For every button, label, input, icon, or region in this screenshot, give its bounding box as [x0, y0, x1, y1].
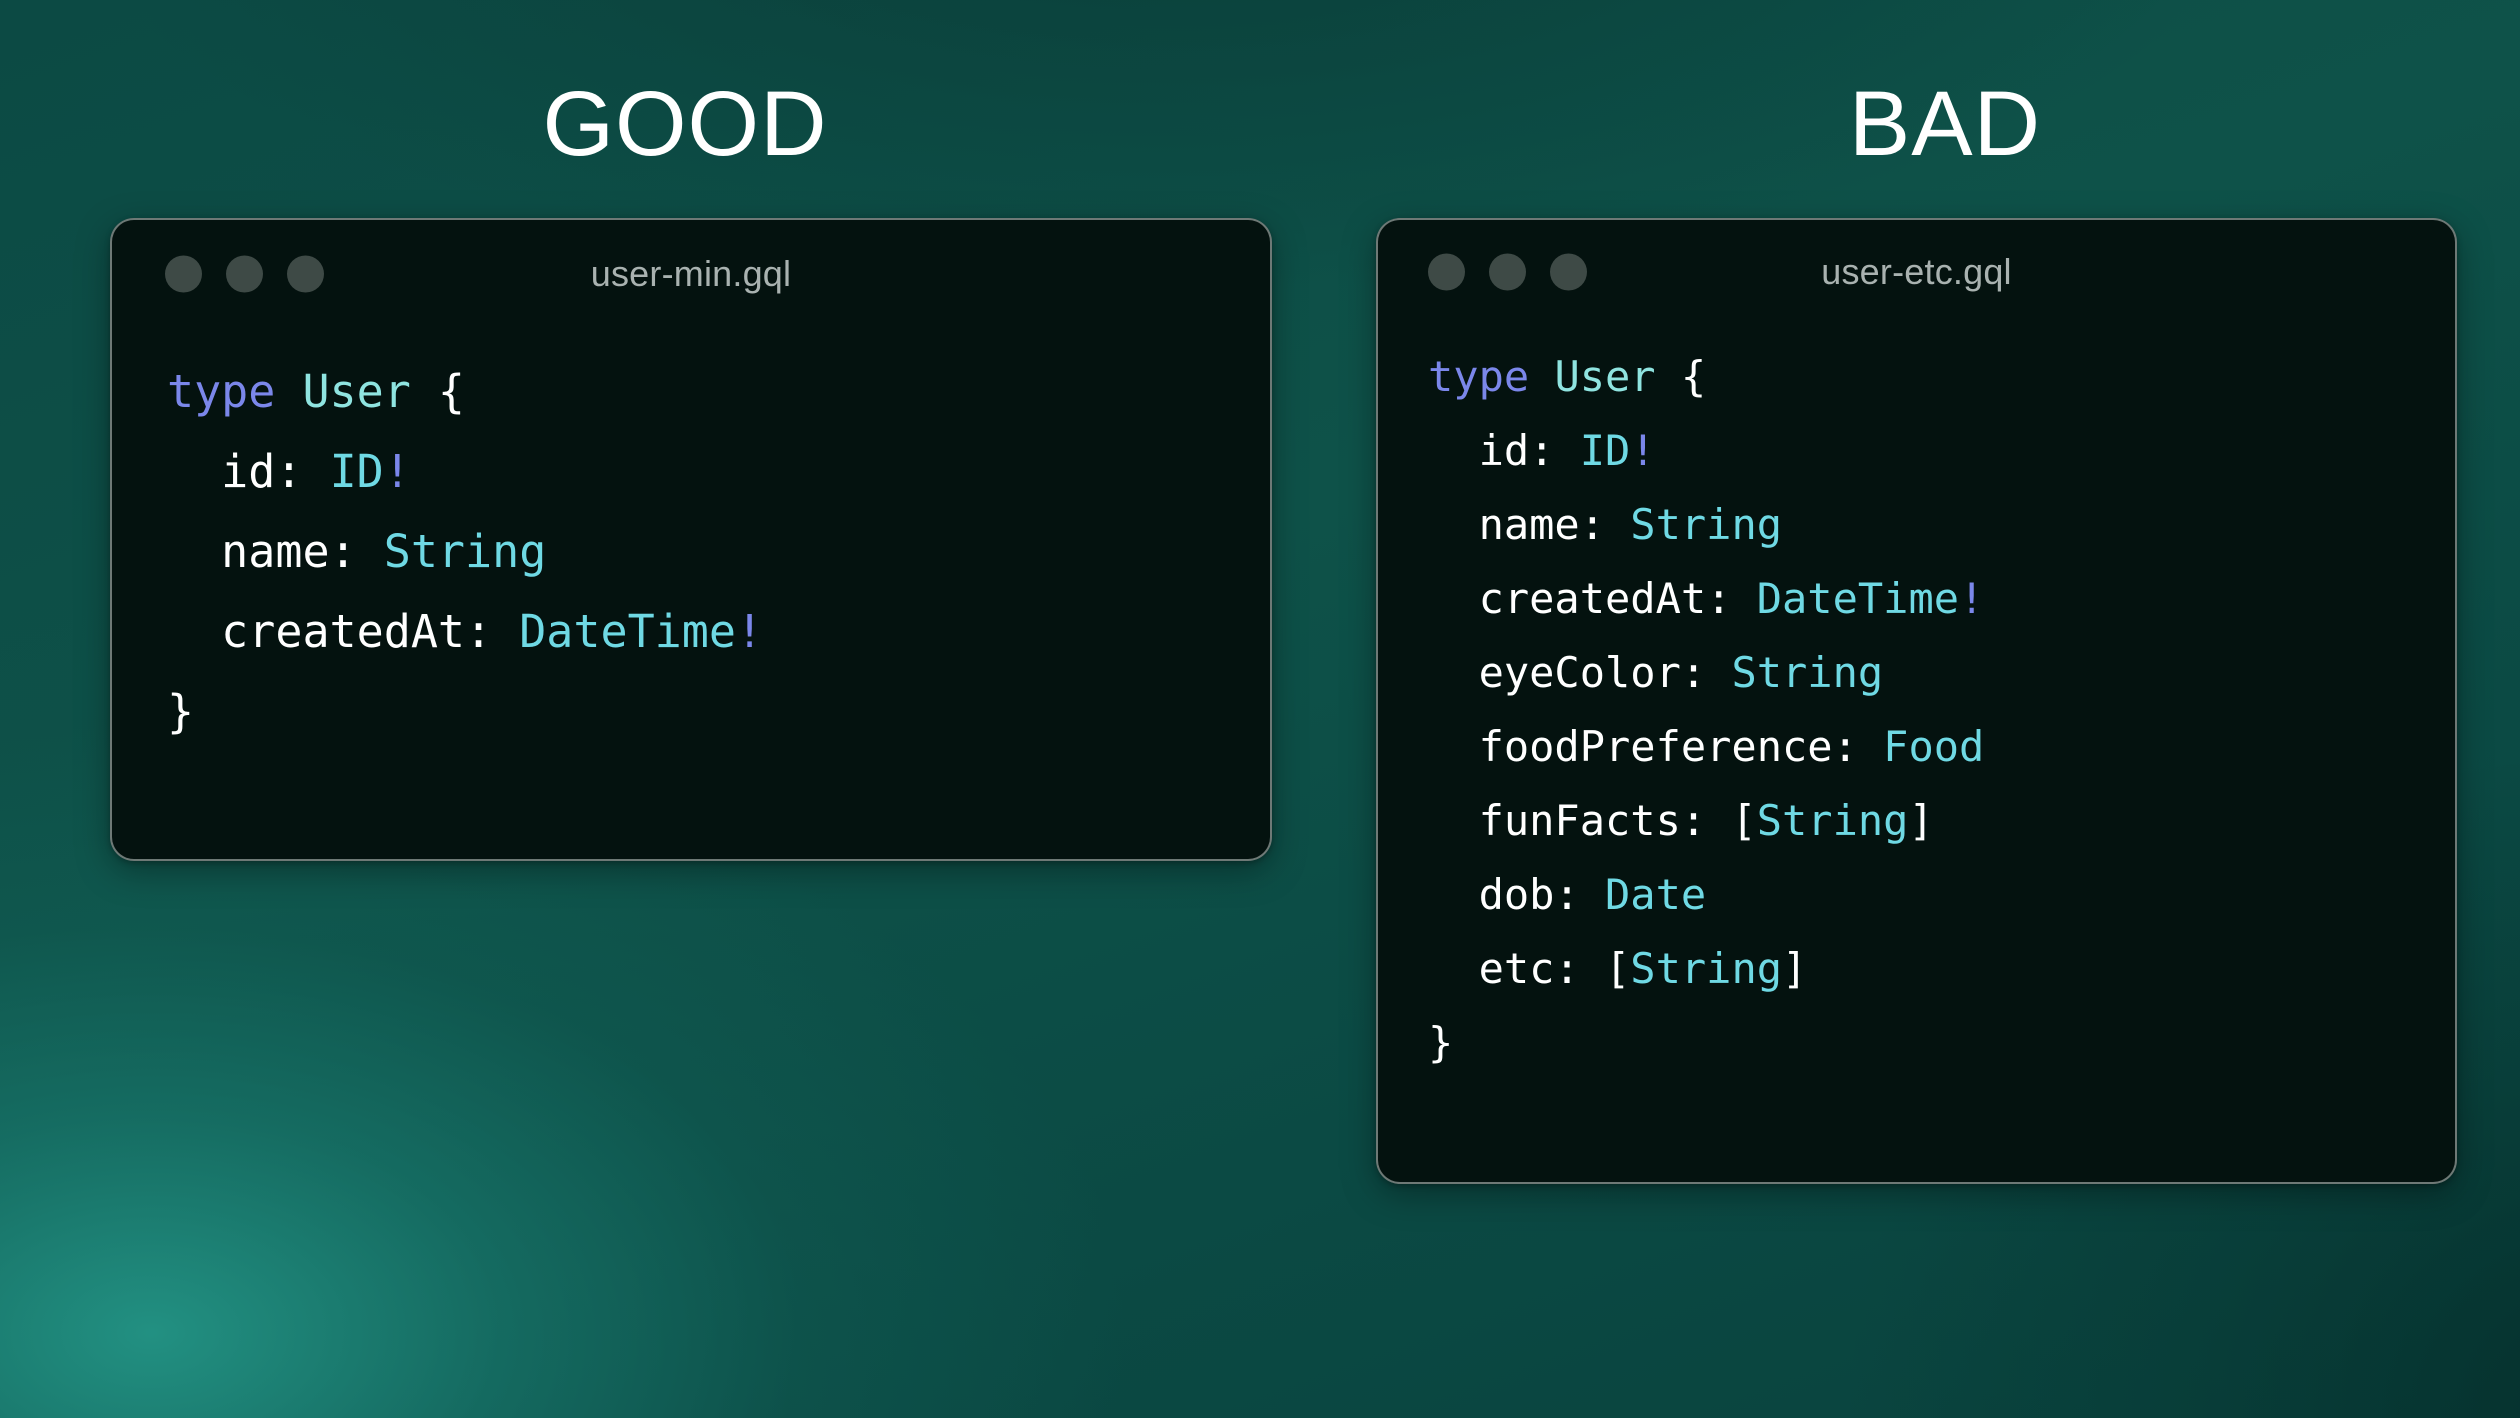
code-token-type: String: [1731, 648, 1883, 697]
window-filename-good: user-min.gql: [112, 253, 1270, 295]
code-token-type: String: [1757, 796, 1909, 845]
code-token-punct: dob:: [1428, 870, 1605, 919]
code-line: }: [167, 672, 1270, 752]
code-token-punct: createdAt:: [1428, 574, 1757, 623]
code-line: id: ID!: [1428, 414, 2455, 488]
code-token-punct: {: [1656, 352, 1707, 401]
code-token-punct: foodPreference:: [1428, 722, 1883, 771]
code-token-type: DateTime: [519, 605, 736, 658]
code-token-type: ID: [1580, 426, 1631, 475]
code-token-punct: id:: [167, 445, 330, 498]
code-window-good: user-min.gql type User { id: ID! name: S…: [110, 218, 1272, 861]
panel-heading-bad: BAD: [1370, 78, 2520, 170]
code-token-punct: {: [411, 365, 465, 418]
code-line: funFacts: [String]: [1428, 784, 2455, 858]
code-token-punct: name:: [1428, 500, 1630, 549]
code-token-punct: name:: [167, 525, 384, 578]
code-token-punct: eyeColor:: [1428, 648, 1731, 697]
code-token-type: String: [1630, 944, 1782, 993]
code-line: id: ID!: [167, 432, 1270, 512]
code-token-kw: type: [1428, 352, 1529, 401]
window-titlebar-bad: user-etc.gql: [1378, 220, 2455, 324]
code-line: type User {: [167, 352, 1270, 432]
code-token-punct: createdAt:: [167, 605, 519, 658]
code-block-bad: type User { id: ID! name: String created…: [1378, 324, 2455, 1080]
code-line: name: String: [1428, 488, 2455, 562]
code-line: createdAt: DateTime!: [1428, 562, 2455, 636]
code-token-punct: ]: [1782, 944, 1807, 993]
code-line: eyeColor: String: [1428, 636, 2455, 710]
code-token-type: String: [1630, 500, 1782, 549]
code-token-punct: id:: [1428, 426, 1580, 475]
code-token-bang: !: [1959, 574, 1984, 623]
code-token-bang: !: [384, 445, 411, 498]
code-token-punct: [1529, 352, 1554, 401]
code-token-punct: }: [1428, 1018, 1453, 1067]
window-filename-bad: user-etc.gql: [1378, 251, 2455, 293]
code-line: foodPreference: Food: [1428, 710, 2455, 784]
window-titlebar-good: user-min.gql: [112, 220, 1270, 328]
code-window-bad: user-etc.gql type User { id: ID! name: S…: [1376, 218, 2457, 1184]
code-token-type: Food: [1883, 722, 1984, 771]
code-token-punct: }: [167, 685, 194, 738]
code-token-punct: ]: [1908, 796, 1933, 845]
code-token-kw: type: [167, 365, 275, 418]
panel-heading-good: GOOD: [0, 78, 1370, 170]
code-line: dob: Date: [1428, 858, 2455, 932]
code-line: name: String: [167, 512, 1270, 592]
code-token-bang: !: [736, 605, 763, 658]
code-token-name: User: [302, 365, 410, 418]
code-token-punct: funFacts: [: [1428, 796, 1757, 845]
code-token-punct: [275, 365, 302, 418]
code-token-type: Date: [1605, 870, 1706, 919]
code-token-bang: !: [1630, 426, 1655, 475]
code-block-good: type User { id: ID! name: String created…: [112, 328, 1270, 752]
code-token-punct: etc: [: [1428, 944, 1630, 993]
code-token-name: User: [1554, 352, 1655, 401]
code-line: createdAt: DateTime!: [167, 592, 1270, 672]
code-token-type: ID: [330, 445, 384, 498]
code-token-type: String: [384, 525, 547, 578]
code-line: type User {: [1428, 340, 2455, 414]
code-token-type: DateTime: [1757, 574, 1959, 623]
code-line: }: [1428, 1006, 2455, 1080]
code-line: etc: [String]: [1428, 932, 2455, 1006]
